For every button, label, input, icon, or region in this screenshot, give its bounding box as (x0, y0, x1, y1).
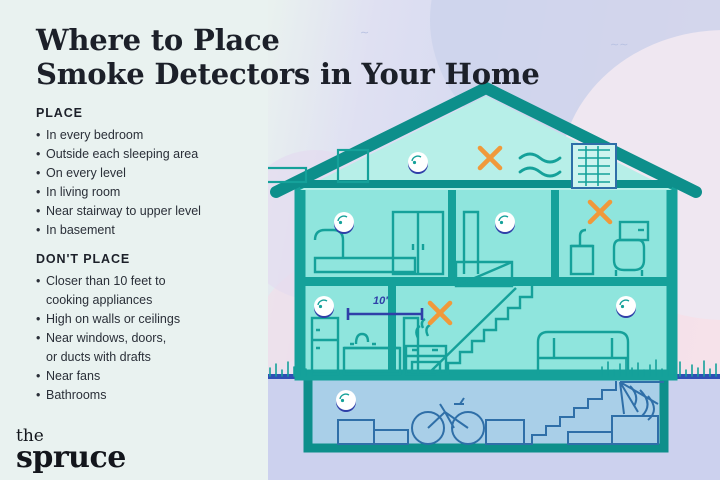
dont-place-item-label: Closer than 10 feet to (46, 272, 166, 291)
list-item: •On every level (36, 164, 201, 183)
place-item-label: In every bedroom (46, 126, 143, 145)
place-item-label: In basement (46, 221, 115, 240)
bullet-dot-icon: • (36, 329, 46, 348)
bullet-dot-icon: • (36, 145, 46, 164)
list-item: •In basement (36, 221, 201, 240)
bullet-dot-icon: • (36, 221, 46, 240)
place-section-title: PLACE (36, 106, 201, 120)
bullet-dot-icon: • (36, 183, 46, 202)
list-item: •Closer than 10 feet to (36, 272, 180, 291)
list-item: •High on walls or ceilings (36, 310, 180, 329)
dont-place-item-continuation: cooking appliances (36, 291, 180, 310)
vent-fan-icon (572, 144, 616, 188)
smoke-detector-living-room (616, 296, 636, 318)
list-item: •Near stairway to upper level (36, 202, 201, 221)
list-item: •Near fans (36, 367, 180, 386)
place-item-label: Outside each sleeping area (46, 145, 198, 164)
dont-place-item-continuation: or ducts with drafts (36, 348, 180, 367)
list-item: •Outside each sleeping area (36, 145, 201, 164)
dont-place-item-label: High on walls or ceilings (46, 310, 180, 329)
headline-line-2: Smoke Detectors in Your Home (36, 58, 556, 92)
infographic-canvas: { "headline": { "line1": "Where to Place… (0, 0, 720, 480)
page-title: Where to Place Smoke Detectors in Your H… (36, 24, 556, 91)
logo-spruce: spruce (16, 444, 126, 473)
smoke-detector-basement (336, 390, 356, 412)
list-item: •Bathrooms (36, 386, 180, 405)
smoke-detector-kitchen (314, 296, 334, 318)
list-item: •In every bedroom (36, 126, 201, 145)
dont-place-item-label: Bathrooms (46, 386, 106, 405)
dont-place-item-label: Near fans (46, 367, 100, 386)
bullet-dot-icon: • (36, 126, 46, 145)
headline-line-1: Where to Place (36, 24, 556, 58)
bullet-dot-icon: • (36, 272, 46, 291)
place-item-label: In living room (46, 183, 120, 202)
smoke-detector-bedroom (334, 212, 354, 234)
dont-place-section: DON'T PLACE •Closer than 10 feet to cook… (36, 252, 180, 405)
brand-logo[interactable]: the spruce (16, 428, 126, 473)
measurement-label: 10' (373, 295, 388, 307)
smoke-detector-attic (408, 152, 428, 174)
bullet-dot-icon: • (36, 386, 46, 405)
list-item: •Near windows, doors, (36, 329, 180, 348)
dont-place-item-label: Near windows, doors, (46, 329, 166, 348)
smoke-detector-hallway (495, 212, 515, 234)
place-item-label: On every level (46, 164, 126, 183)
dont-place-section-title: DON'T PLACE (36, 252, 180, 266)
bullet-dot-icon: • (36, 202, 46, 221)
place-item-label: Near stairway to upper level (46, 202, 201, 221)
grass-row (268, 352, 720, 392)
list-item: •In living room (36, 183, 201, 202)
bullet-dot-icon: • (36, 367, 46, 386)
bullet-dot-icon: • (36, 310, 46, 329)
bullet-dot-icon: • (36, 164, 46, 183)
place-section: PLACE •In every bedroom •Outside each sl… (36, 106, 201, 240)
